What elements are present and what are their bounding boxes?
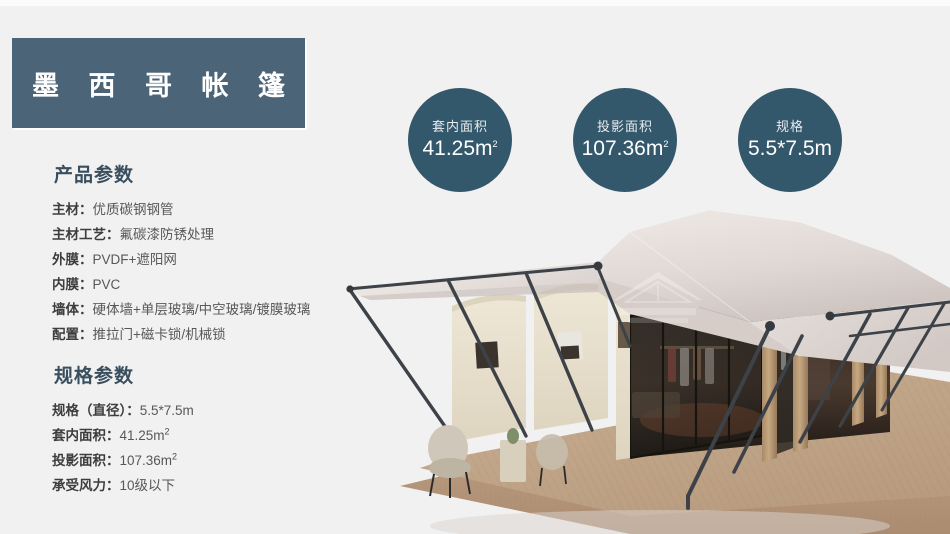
stat-badge-group: 套内面积 41.25m2 投影面积 107.36m2 规格 5.5*7.5m bbox=[408, 88, 908, 192]
wall-bay-1 bbox=[452, 296, 526, 442]
square-meter-superscript: 2 bbox=[172, 452, 177, 462]
stat-badge-value: 107.36m2 bbox=[582, 135, 669, 162]
param-label: 墙体： bbox=[52, 302, 93, 317]
param-label: 配置： bbox=[52, 327, 93, 342]
wall-bay-2-window-inner bbox=[561, 345, 580, 359]
stat-badge-label: 套内面积 bbox=[432, 118, 488, 135]
param-label: 主材： bbox=[52, 202, 93, 217]
param-value: 氟碳漆防锈处理 bbox=[120, 227, 215, 242]
stat-badge-label: 投影面积 bbox=[597, 118, 653, 135]
tent-illustration bbox=[330, 196, 950, 534]
param-value: 10级以下 bbox=[120, 478, 176, 493]
param-value: 推拉门+磁卡锁/机械锁 bbox=[93, 327, 226, 342]
param-value: 优质碳钢钢管 bbox=[93, 202, 174, 217]
param-value: 5.5*7.5m bbox=[140, 403, 194, 418]
stat-badge-number: 5.5*7.5m bbox=[748, 137, 832, 160]
side-table bbox=[500, 440, 526, 482]
stat-badge-number: 107.36m bbox=[582, 137, 664, 160]
side-table-plant bbox=[507, 428, 519, 444]
title-banner: 墨 西 哥 帐 篷 bbox=[12, 38, 305, 128]
param-value: PVC bbox=[93, 277, 121, 292]
armchair-seat bbox=[429, 458, 471, 478]
stat-badge-projected-area: 投影面积 107.36m2 bbox=[573, 88, 677, 192]
param-label: 套内面积： bbox=[52, 428, 120, 443]
stat-badge-number: 41.25m bbox=[422, 137, 492, 160]
square-meter-superscript: 2 bbox=[663, 139, 668, 149]
param-value: PVDF+遮阳网 bbox=[93, 252, 177, 267]
stat-badge-interior-area: 套内面积 41.25m2 bbox=[408, 88, 512, 192]
param-value: 41.25m bbox=[120, 428, 165, 443]
param-label: 规格（直径）： bbox=[52, 403, 140, 418]
square-meter-superscript: 2 bbox=[493, 139, 498, 149]
param-value: 107.36m bbox=[120, 453, 173, 468]
armchair-2 bbox=[536, 434, 568, 470]
param-label: 外膜： bbox=[52, 252, 93, 267]
param-label: 内膜： bbox=[52, 277, 93, 292]
param-value: 硬体墙+单层玻璃/中空玻璃/镀膜玻璃 bbox=[93, 302, 311, 317]
top-strip bbox=[0, 0, 950, 6]
square-meter-superscript: 2 bbox=[165, 427, 170, 437]
param-label: 承受风力： bbox=[52, 478, 120, 493]
stat-badge-dimensions: 规格 5.5*7.5m bbox=[738, 88, 842, 192]
presentation-slide: 墨 西 哥 帐 篷 产品参数 主材：优质碳钢钢管 主材工艺：氟碳漆防锈处理 外膜… bbox=[0, 0, 950, 534]
stat-badge-value: 41.25m2 bbox=[422, 135, 497, 162]
param-label: 投影面积： bbox=[52, 453, 120, 468]
tent-render-svg bbox=[330, 196, 950, 534]
stat-badge-label: 规格 bbox=[776, 118, 804, 135]
stat-badge-value: 5.5*7.5m bbox=[748, 135, 832, 162]
param-label: 主材工艺： bbox=[52, 227, 120, 242]
section-heading-product: 产品参数 bbox=[54, 160, 392, 187]
page-title: 墨 西 哥 帐 篷 bbox=[21, 64, 296, 103]
